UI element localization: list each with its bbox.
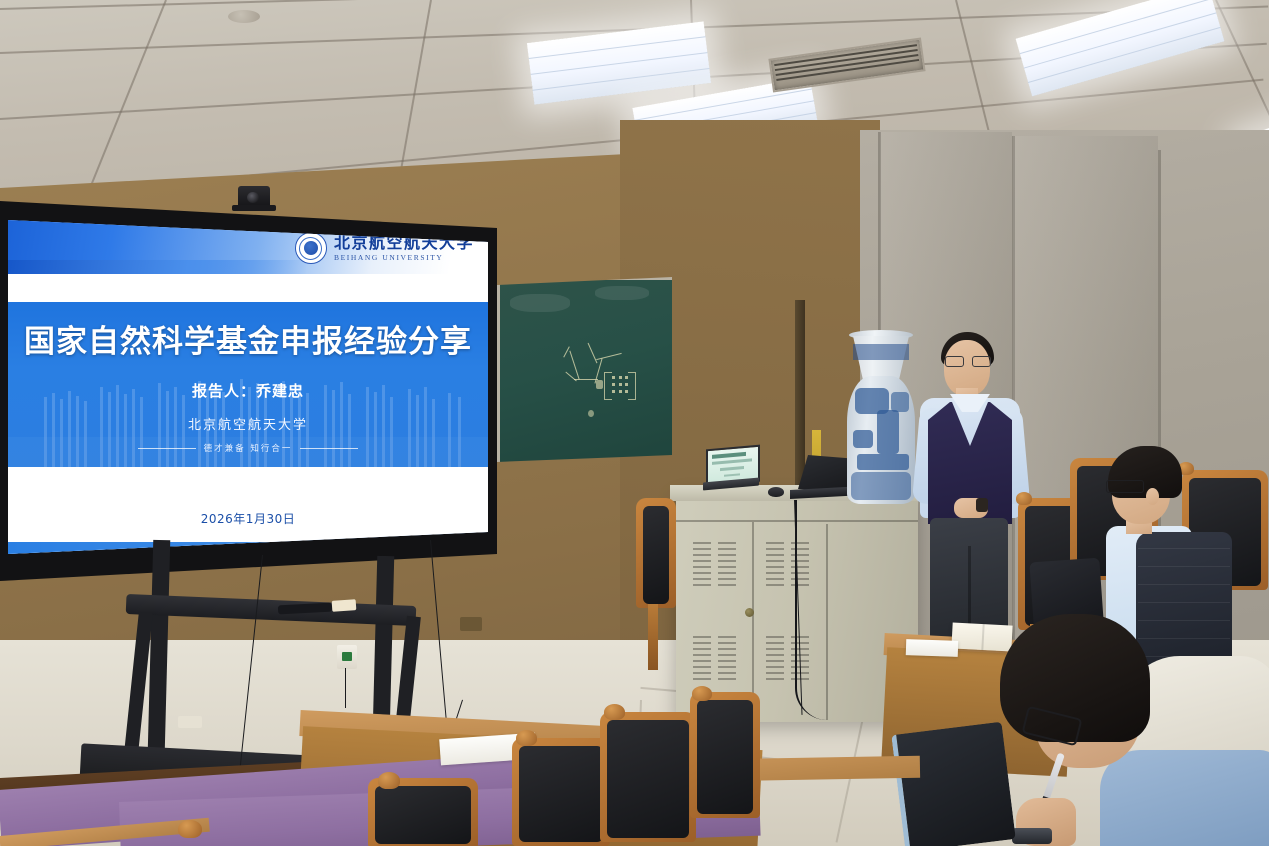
slide-motto: 德才兼备 知行合一 [204,442,293,454]
small-tray [332,599,357,612]
podium-vent-slats [766,636,784,682]
chair[interactable] [690,692,760,818]
podium-vent-slats [693,542,711,588]
chair[interactable] [636,498,676,608]
lecture-room-photo: 北京航空航天大学 BEIHANG UNIVERSITY [0,0,1269,846]
chair[interactable] [600,712,696,842]
cable-clip [178,716,202,728]
chalk-axis [588,343,598,364]
audience-ear [1146,488,1159,505]
motto-rule-right [300,448,358,449]
slide-title: 国家自然科学基金申报经验分享 [8,316,488,361]
slide-header-white-strip [8,274,488,302]
podium-vent-slats [718,542,736,588]
chalk-axis [565,372,577,382]
wall-display[interactable]: 北京航空航天大学 BEIHANG UNIVERSITY [0,196,500,581]
chair-finial [516,730,537,746]
slide-speaker: 报告人：乔建忠 [8,380,488,401]
podium-vent-slats [693,636,711,682]
motto-rule-left [138,448,196,449]
chalk-matrix-bracket [628,372,636,400]
power-cord [345,668,347,708]
computer-mouse[interactable] [768,487,784,497]
tablet-device[interactable] [891,722,1016,846]
slide-date: 2026年1月30日 [8,510,488,527]
wall-power-outlet [337,645,357,669]
podium-vent-slats [718,636,736,682]
chalk-axis [596,353,622,361]
chair-finial [178,820,202,838]
chair-finial [378,772,400,789]
chalk-matrix-bracket [604,372,612,400]
podium-lock[interactable] [745,608,754,617]
display-screen: 北京航空航天大学 BEIHANG UNIVERSITY [8,214,488,559]
podium-vent-slats [766,542,784,588]
wall-plate [460,617,482,631]
open-laptop[interactable] [703,447,759,489]
audience-glasses-icon [1106,480,1144,493]
smoke-detector-icon [228,10,260,23]
slide-body: 国家自然科学基金申报经验分享 报告人：乔建忠 北京航空航天大学 德才兼备 知行合… [8,302,488,467]
paper-sheet [906,639,959,657]
student-wristwatch [1012,828,1052,844]
presentation-slide: 北京航空航天大学 BEIHANG UNIVERSITY [8,214,488,559]
chair[interactable] [512,738,610,846]
chair-leg [648,604,658,670]
presenter-glasses-icon [945,356,989,365]
logo-name-en: BEIHANG UNIVERSITY [334,254,474,262]
slide-motto-row: 德才兼备 知行合一 [8,442,488,454]
university-seal-icon [295,232,327,264]
student-jacket [1100,750,1269,846]
slide-organization: 北京航空航天大学 [8,414,488,433]
audience-member-foreground [980,600,1269,846]
chair-finial [604,704,625,720]
podium-door-seam [752,522,754,720]
chair-finial [692,686,712,701]
chalkboard [497,277,678,468]
presenter-wristwatch [976,498,988,512]
